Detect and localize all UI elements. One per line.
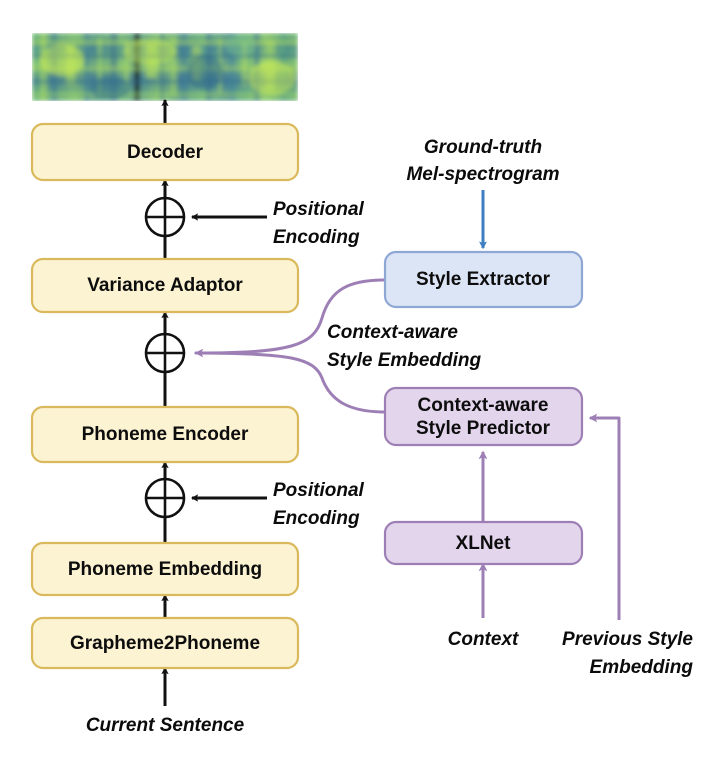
annotation-positional-encoding-bottom-line2: Encoding: [273, 508, 360, 529]
annotation-current-sentence: Current Sentence: [86, 715, 245, 736]
annotation-positional-encoding-top-line1: Positional: [273, 199, 365, 220]
node-phoneme-embedding[interactable]: Phoneme Embedding: [32, 543, 298, 595]
node-variance-adaptor[interactable]: Variance Adaptor: [32, 259, 298, 312]
node-phoneme-encoder[interactable]: Phoneme Encoder: [32, 407, 298, 462]
annotation-style-embedding-line1: Context-aware: [327, 322, 458, 343]
node-style-predictor-label-line1: Context-aware: [418, 395, 549, 416]
add-operator-embedding-icon: [146, 479, 184, 517]
add-operator-bottom-icon: [146, 334, 184, 372]
node-decoder[interactable]: Decoder: [32, 124, 298, 180]
mel-spectrogram-image: [32, 33, 298, 101]
annotation-positional-encoding-top-line2: Encoding: [273, 227, 360, 248]
annotation-context: Context: [448, 629, 519, 650]
node-xlnet-label: XLNet: [456, 533, 512, 554]
node-xlnet[interactable]: XLNet: [385, 522, 582, 564]
node-style-predictor-label-line2: Style Predictor: [416, 418, 551, 439]
node-decoder-label: Decoder: [127, 142, 204, 163]
annotation-ground-truth-line1: Ground-truth: [424, 137, 542, 158]
annotation-previous-style-line2: Embedding: [590, 657, 694, 678]
node-phoneme-encoder-label: Phoneme Encoder: [82, 424, 249, 445]
node-phoneme-embedding-label: Phoneme Embedding: [68, 559, 262, 580]
node-style-extractor[interactable]: Style Extractor: [385, 252, 582, 307]
node-grapheme2phoneme-label: Grapheme2Phoneme: [70, 633, 260, 654]
annotation-positional-encoding-bottom-line1: Positional: [273, 480, 365, 501]
node-style-predictor[interactable]: Context-aware Style Predictor: [385, 388, 582, 445]
annotation-ground-truth-line2: Mel-spectrogram: [406, 164, 559, 185]
node-variance-adaptor-label: Variance Adaptor: [87, 275, 243, 296]
annotation-style-embedding-line2: Style Embedding: [327, 350, 482, 371]
diagram-canvas: Decoder Variance Adaptor Phoneme Encoder…: [0, 0, 711, 772]
annotation-previous-style-line1: Previous Style: [562, 629, 693, 650]
arrow-previous-style-to-predictor: [590, 418, 619, 620]
node-style-extractor-label: Style Extractor: [416, 269, 551, 290]
architecture-diagram: Decoder Variance Adaptor Phoneme Encoder…: [0, 0, 711, 772]
add-operator-top-icon: [146, 198, 184, 236]
node-grapheme2phoneme[interactable]: Grapheme2Phoneme: [32, 618, 298, 668]
